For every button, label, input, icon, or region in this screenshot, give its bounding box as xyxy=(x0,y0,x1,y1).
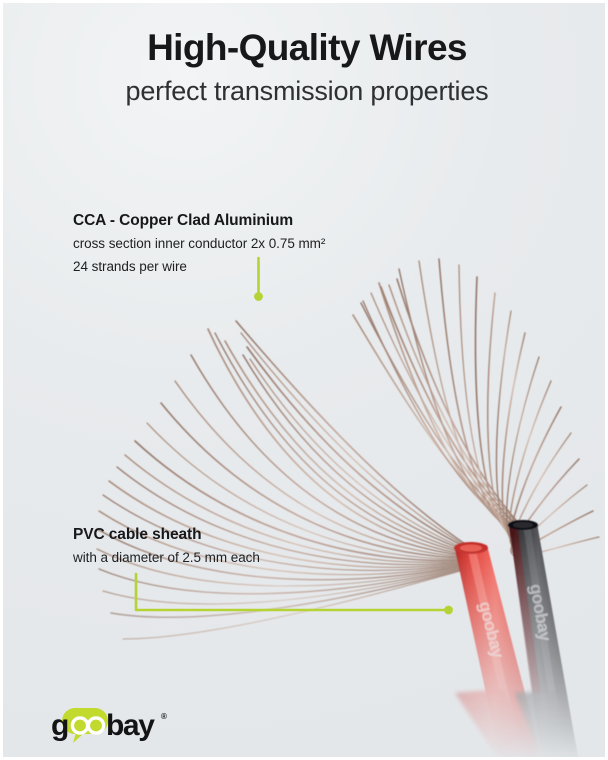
callout-pvc: PVC cable sheath with a diameter of 2.5 … xyxy=(73,525,260,568)
callout-cca-title: CCA - Copper Clad Aluminium xyxy=(73,211,325,231)
page-subtitle: perfect transmission properties xyxy=(3,76,608,107)
callout-cca: CCA - Copper Clad Aluminium cross sectio… xyxy=(73,211,325,276)
black-cable-branding: goobay xyxy=(526,582,555,643)
logo-registered-mark: ® xyxy=(161,712,167,721)
product-photo: goobay goobay xyxy=(3,3,608,760)
red-cable-branding: goobay xyxy=(475,599,508,660)
callout-pvc-line-1: with a diameter of 2.5 mm each xyxy=(73,548,260,568)
red-cable: goobay xyxy=(454,542,543,760)
callout-cca-line-2: 24 strands per wire xyxy=(73,257,325,277)
callout-pvc-title: PVC cable sheath xyxy=(73,525,260,545)
page-title: High-Quality Wires xyxy=(3,29,608,68)
logo-wordmark-tail: bay xyxy=(106,709,155,742)
goobay-logo: g bay ® xyxy=(51,705,171,747)
infographic-poster: goobay goobay High-Quality Wires perfect… xyxy=(0,0,608,760)
copper-strands-right xyxy=(353,259,599,556)
leader-line-pvc xyxy=(133,571,459,623)
leader-line-cca xyxy=(249,255,273,307)
logo-bubble xyxy=(62,708,108,743)
logo-wordmark: g xyxy=(51,709,68,742)
header: High-Quality Wires perfect transmission … xyxy=(3,29,608,107)
black-cable: goobay xyxy=(508,520,579,760)
callout-cca-line-1: cross section inner conductor 2x 0.75 mm… xyxy=(73,234,325,254)
